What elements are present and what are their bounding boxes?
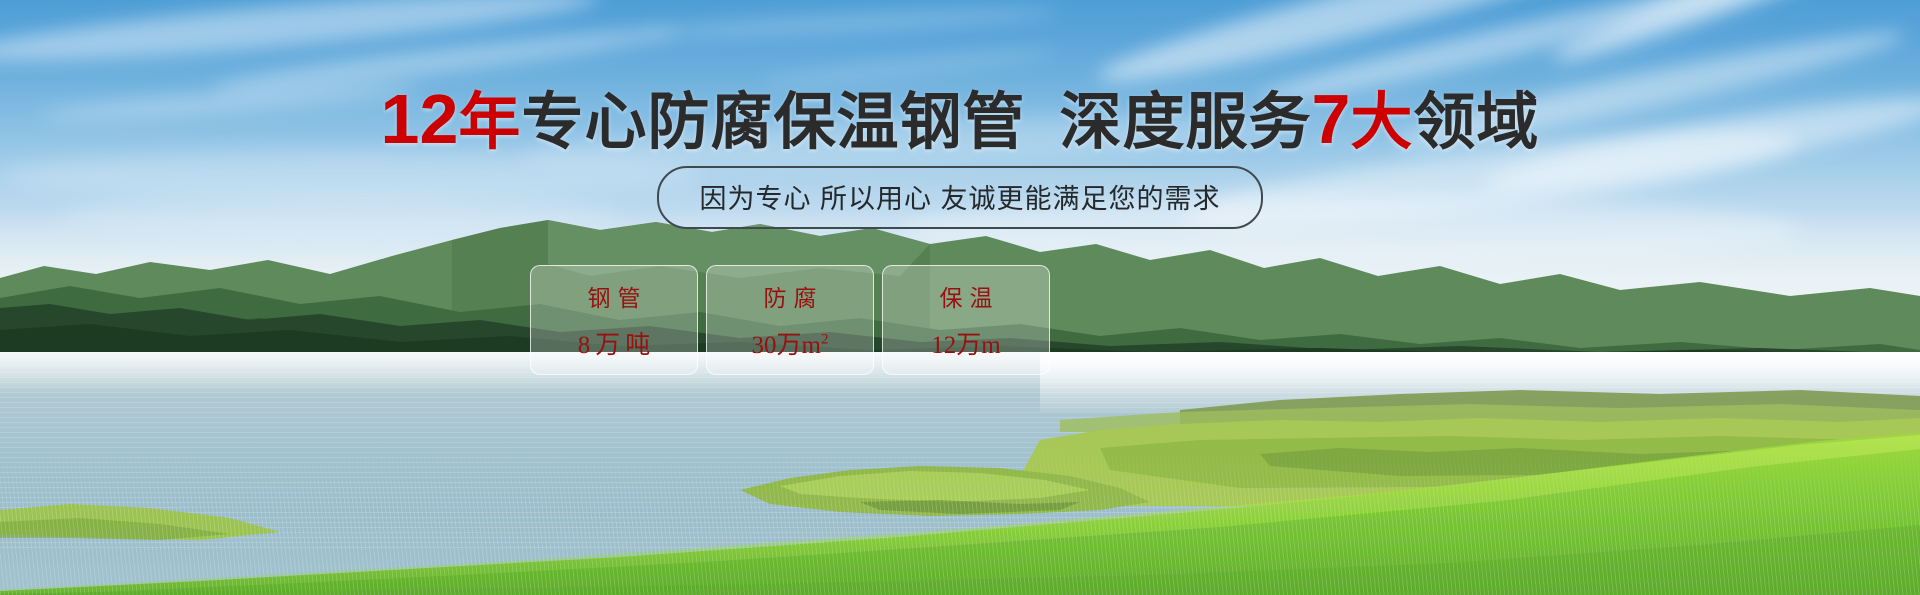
banner-subtitle: 因为专心 所以用心 友诚更能满足您的需求 (657, 166, 1262, 229)
stat-card-value-superscript: 2 (821, 332, 829, 348)
stat-card-group: 钢管 8万吨 防腐 30万m2 保温 12万m (530, 265, 1050, 375)
stat-card-value: 30万m2 (752, 325, 829, 361)
headline-main-text: 专心防腐保温钢管 (521, 88, 1025, 157)
banner-headline: 12年专心防腐保温钢管深度服务7大领域 (0, 80, 1920, 158)
promo-banner: 12年专心防腐保温钢管深度服务7大领域 因为专心 所以用心 友诚更能满足您的需求… (0, 0, 1920, 595)
banner-subtitle-container: 因为专心 所以用心 友诚更能满足您的需求 (0, 166, 1920, 229)
headline-years-number: 12 (381, 80, 459, 158)
stat-card-steel-pipe: 钢管 8万吨 (530, 265, 698, 375)
headline-fields-unit: 大 (1350, 88, 1413, 157)
stat-card-value: 12万m (931, 325, 1000, 361)
banner-text-overlay: 12年专心防腐保温钢管深度服务7大领域 因为专心 所以用心 友诚更能满足您的需求… (0, 0, 1920, 595)
stat-card-anticorrosion: 防腐 30万m2 (706, 265, 874, 375)
stat-card-insulation: 保温 12万m (882, 265, 1050, 375)
headline-years-unit: 年 (458, 88, 521, 157)
headline-fields-suffix: 领域 (1413, 88, 1539, 157)
stat-card-label: 防腐 (757, 279, 824, 313)
stat-card-value-text: 30万m (752, 332, 821, 359)
stat-card-label: 保温 (933, 279, 1000, 313)
stat-card-value: 8万吨 (573, 325, 656, 361)
stat-card-label: 钢管 (581, 279, 648, 313)
headline-fields-number: 7 (1311, 80, 1350, 158)
headline-service-text: 深度服务 (1059, 88, 1311, 157)
